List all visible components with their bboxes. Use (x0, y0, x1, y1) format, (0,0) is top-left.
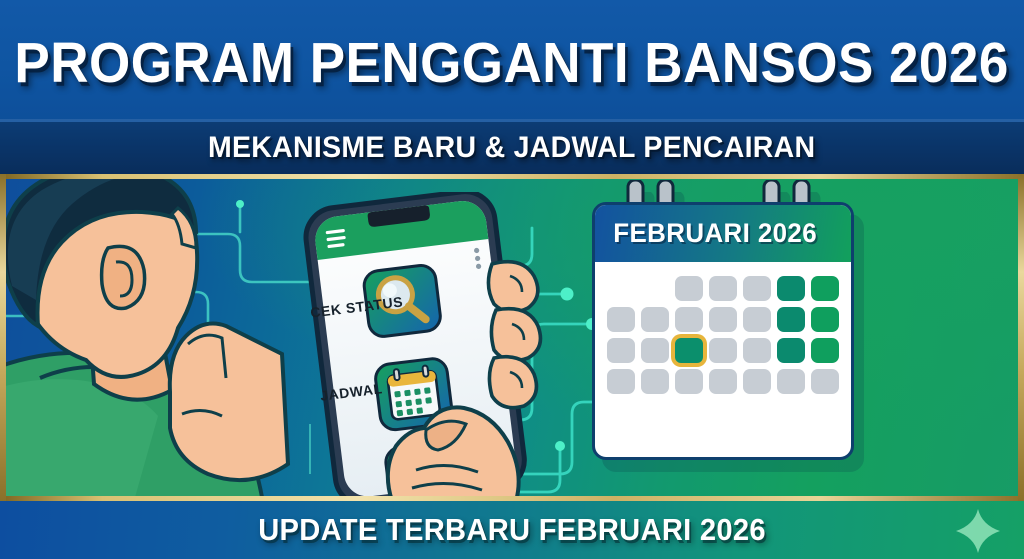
calendar-day-cell (709, 369, 737, 394)
four-point-star-icon (956, 509, 1000, 553)
gold-border-right (1018, 174, 1024, 501)
subtitle-band: MEKANISME BARU & JADWAL PENCAIRAN (0, 122, 1024, 174)
footer-band: UPDATE TERBARU FEBRUARI 2026 (0, 501, 1024, 559)
calendar-day-cell (777, 276, 805, 301)
page-subtitle: MEKANISME BARU & JADWAL PENCAIRAN (208, 131, 815, 165)
calendar-day-cell (641, 369, 669, 394)
calendar-grid (595, 262, 851, 406)
calendar-day-cell (607, 276, 635, 301)
calendar-day-cell (641, 276, 669, 301)
calendar-day-cell (641, 307, 669, 332)
calendar-widget: FEBRUARI 2026 (592, 202, 854, 460)
gold-divider-bottom (0, 496, 1024, 501)
calendar-day-cell (607, 369, 635, 394)
calendar-day-cell (811, 276, 839, 301)
calendar-day-cell (743, 276, 771, 301)
calendar-header: FEBRUARI 2026 (595, 205, 851, 262)
pointing-hand (296, 192, 546, 501)
illustration-scene: CEK STATUS JADWAL (0, 174, 1024, 501)
calendar-day-cell (607, 338, 635, 363)
calendar-day-cell (641, 338, 669, 363)
calendar-day-cell (777, 369, 805, 394)
page-title: PROGRAM PENGGANTI BANSOS 2026 (15, 35, 1009, 92)
calendar-day-cell (675, 307, 703, 332)
calendar-day-cell (811, 307, 839, 332)
smartphone: CEK STATUS JADWAL (296, 192, 546, 501)
calendar-day-cell (675, 369, 703, 394)
calendar-day-cell (743, 338, 771, 363)
calendar-day-cell (607, 307, 635, 332)
calendar-day-cell (811, 369, 839, 394)
calendar-day-cell (777, 338, 805, 363)
calendar-day-cell (743, 307, 771, 332)
calendar-month-label: FEBRUARI 2026 (613, 218, 817, 249)
calendar-day-cell (777, 307, 805, 332)
poster-root: PROGRAM PENGGANTI BANSOS 2026 MEKANISME … (0, 0, 1024, 559)
footer-text: UPDATE TERBARU FEBRUARI 2026 (258, 512, 766, 548)
calendar-day-cell (811, 338, 839, 363)
calendar-day-cell (675, 338, 703, 363)
gold-divider-top (0, 174, 1024, 179)
calendar-day-cell (675, 276, 703, 301)
gold-border-left (0, 174, 6, 501)
calendar-day-cell (709, 276, 737, 301)
title-band: PROGRAM PENGGANTI BANSOS 2026 (0, 0, 1024, 122)
calendar-day-cell (709, 307, 737, 332)
calendar-day-cell (709, 338, 737, 363)
calendar-day-cell (743, 369, 771, 394)
